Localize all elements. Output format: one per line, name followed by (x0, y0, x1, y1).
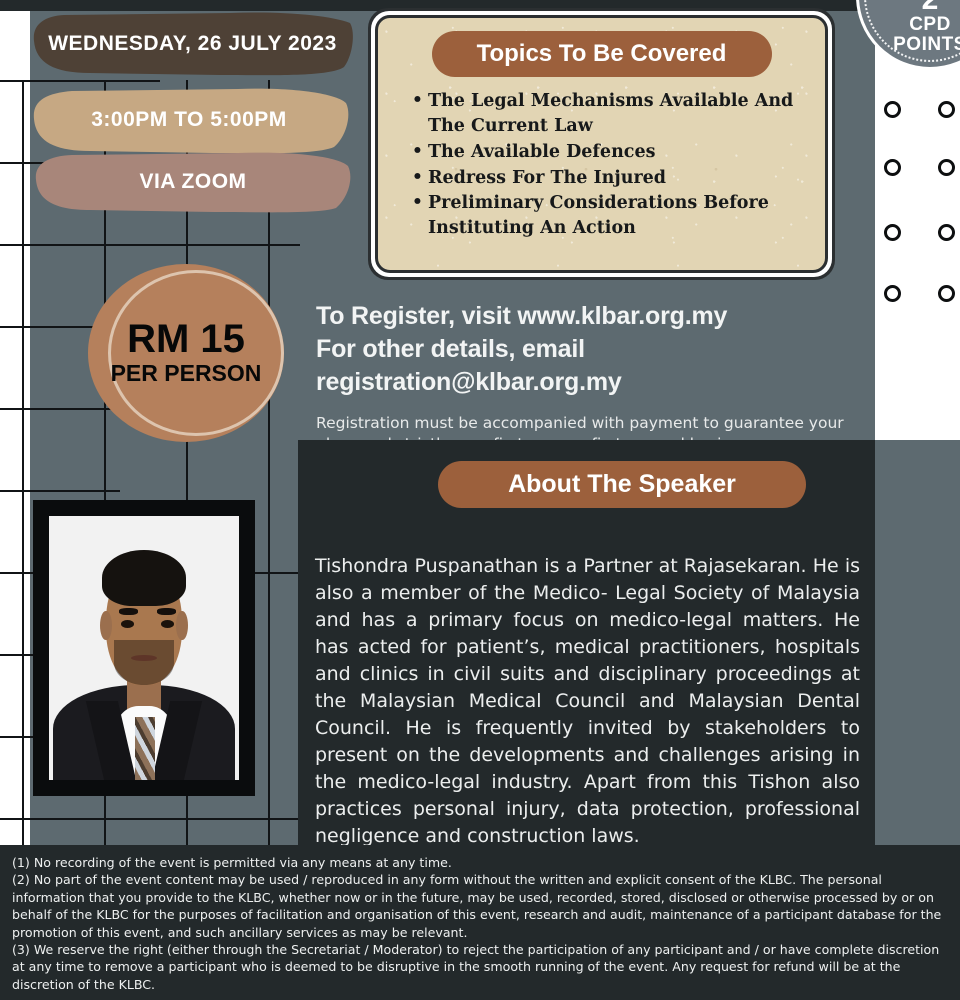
topics-card: Topics To Be Covered The Legal Mechanism… (368, 8, 835, 280)
punch-circle (884, 101, 901, 118)
speaker-photo-frame (33, 500, 255, 796)
topics-card-white-ring: Topics To Be Covered The Legal Mechanism… (371, 11, 832, 277)
event-venue-pill: VIA ZOOM (32, 150, 354, 214)
disclaimer-clause-1: (1) No recording of the event is permitt… (12, 854, 948, 871)
event-date-label: WEDNESDAY, 26 JULY 2023 (48, 32, 337, 56)
cpd-points-value: 2 (922, 0, 939, 15)
event-date-pill: WEDNESDAY, 26 JULY 2023 (30, 11, 355, 77)
punch-circle (938, 285, 955, 302)
speaker-bio-text: Tishondra Puspanathan is a Partner at Ra… (315, 553, 860, 850)
punch-circle (884, 224, 901, 241)
event-venue-label: VIA ZOOM (139, 170, 246, 194)
price-badge: RM 15 PER PERSON (88, 264, 284, 442)
speaker-section-title: About The Speaker (438, 461, 806, 508)
topics-title: Topics To Be Covered (432, 31, 772, 77)
punch-circle (938, 224, 955, 241)
list-item: Preliminary Considerations Before Instit… (412, 191, 809, 241)
list-item: The Available Defences (412, 140, 809, 165)
list-item: The Legal Mechanisms Available And The C… (412, 89, 809, 139)
punch-circle (884, 159, 901, 176)
topics-card-inner: Topics To Be Covered The Legal Mechanism… (375, 15, 828, 273)
price-amount: RM 15 (127, 319, 245, 359)
speaker-section: About The Speaker Tishondra Puspanathan … (298, 440, 875, 845)
event-time-label: 3:00PM TO 5:00PM (91, 108, 287, 132)
cpd-label-line2: POINTS (893, 35, 960, 55)
disclaimer-clause-3: (3) We reserve the right (either through… (12, 941, 948, 993)
speaker-photo-frame-inner (40, 507, 248, 789)
cpd-label-line1: CPD (909, 15, 951, 35)
topics-list: The Legal Mechanisms Available And The C… (378, 89, 825, 241)
speaker-portrait-photo (49, 516, 239, 780)
left-white-strip (0, 11, 30, 845)
cpd-points-badge: 2 CPD POINTS (856, 0, 960, 70)
price-unit: PER PERSON (111, 359, 262, 388)
punch-circle (938, 159, 955, 176)
disclaimer-section: (1) No recording of the event is permitt… (0, 845, 960, 1000)
punch-circle (884, 285, 901, 302)
list-item: Redress For The Injured (412, 166, 809, 191)
register-email-line: For other details, email registration@kl… (316, 333, 876, 399)
register-website-line: To Register, visit www.klbar.org.my (316, 300, 876, 333)
disclaimer-clause-2: (2) No part of the event content may be … (12, 871, 948, 941)
event-poster: WEDNESDAY, 26 JULY 2023 3:00PM TO 5:00PM… (0, 0, 960, 1000)
punch-circle (938, 101, 955, 118)
registration-info: To Register, visit www.klbar.org.my For … (316, 300, 876, 455)
event-time-pill: 3:00PM TO 5:00PM (28, 85, 350, 155)
